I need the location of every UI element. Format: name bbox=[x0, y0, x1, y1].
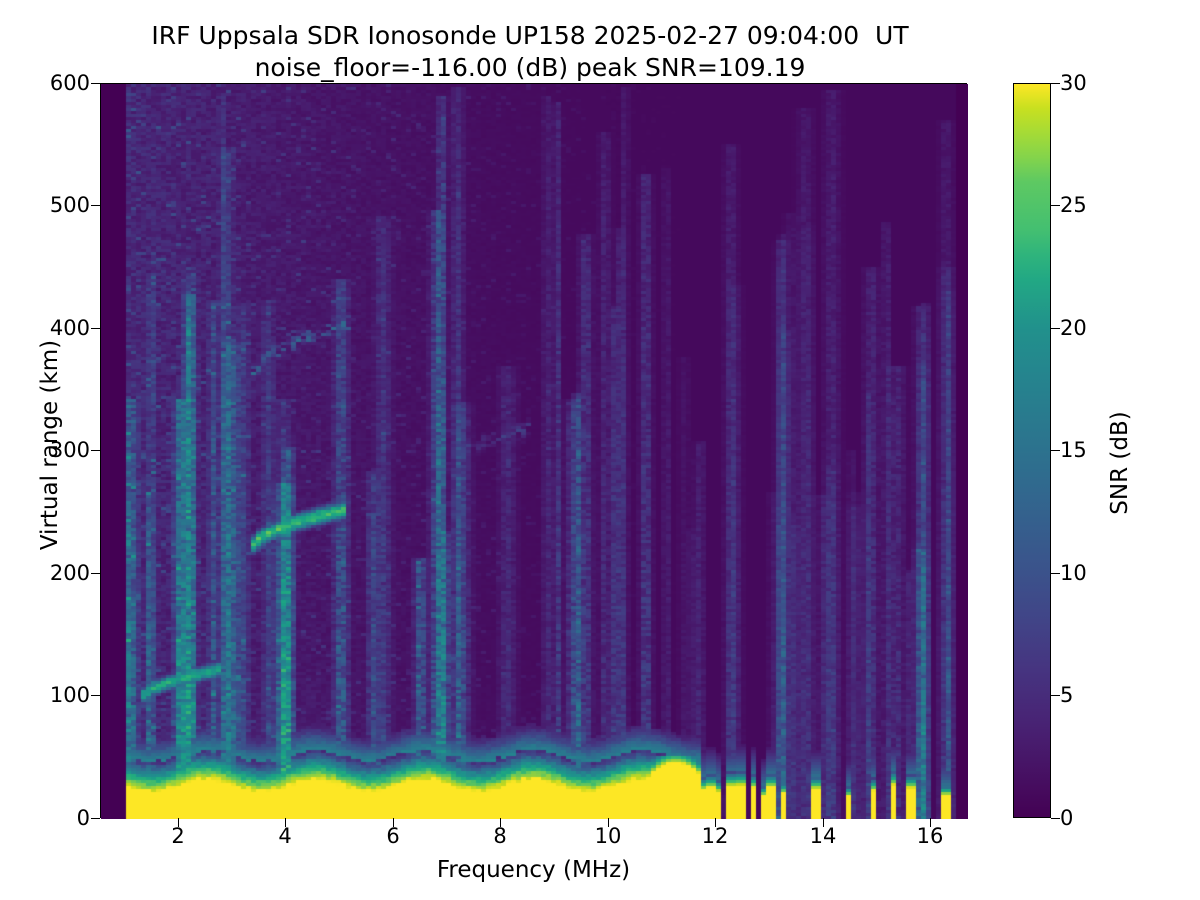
y-tick-label-600: 600 bbox=[30, 73, 90, 94]
colorbar-tick-mark-25 bbox=[1051, 205, 1060, 206]
y-tick-mark-600 bbox=[91, 83, 100, 84]
x-tick-label-14: 14 bbox=[793, 826, 853, 847]
colorbar-tick-label-20: 20 bbox=[1060, 318, 1110, 339]
x-tick-mark-6 bbox=[393, 818, 394, 827]
figure-title-line-2: noise_floor=-116.00 (dB) peak SNR=109.19 bbox=[0, 52, 1060, 84]
colorbar-tick-label-25: 25 bbox=[1060, 195, 1110, 216]
colorbar-label: SNR (dB) bbox=[1107, 263, 1133, 663]
colorbar-gradient bbox=[1014, 84, 1050, 817]
x-tick-label-16: 16 bbox=[900, 826, 960, 847]
x-tick-mark-8 bbox=[500, 818, 501, 827]
y-tick-mark-200 bbox=[91, 573, 100, 574]
x-tick-mark-4 bbox=[285, 818, 286, 827]
x-tick-mark-2 bbox=[178, 818, 179, 827]
colorbar-tick-mark-30 bbox=[1051, 83, 1060, 84]
ionogram-heatmap[interactable] bbox=[101, 84, 968, 819]
colorbar-tick-mark-15 bbox=[1051, 450, 1060, 451]
x-tick-label-10: 10 bbox=[578, 826, 638, 847]
x-tick-mark-10 bbox=[608, 818, 609, 827]
y-axis-label: Virtual range (km) bbox=[37, 245, 63, 645]
ionogram-plot-area[interactable] bbox=[100, 83, 967, 818]
x-axis-label: Frequency (MHz) bbox=[100, 857, 967, 883]
x-tick-mark-16 bbox=[930, 818, 931, 827]
y-tick-label-0: 0 bbox=[30, 808, 90, 829]
y-tick-mark-0 bbox=[91, 818, 100, 819]
colorbar-tick-label-5: 5 bbox=[1060, 685, 1110, 706]
x-tick-mark-12 bbox=[715, 818, 716, 827]
colorbar[interactable] bbox=[1013, 83, 1051, 818]
colorbar-tick-mark-20 bbox=[1051, 328, 1060, 329]
figure-title-line-1: IRF Uppsala SDR Ionosonde UP158 2025-02-… bbox=[0, 20, 1060, 52]
colorbar-tick-mark-10 bbox=[1051, 573, 1060, 574]
y-tick-mark-100 bbox=[91, 695, 100, 696]
y-tick-mark-300 bbox=[91, 450, 100, 451]
x-tick-mark-14 bbox=[823, 818, 824, 827]
y-tick-mark-400 bbox=[91, 328, 100, 329]
colorbar-tick-mark-5 bbox=[1051, 695, 1060, 696]
colorbar-tick-label-10: 10 bbox=[1060, 563, 1110, 584]
x-tick-label-2: 2 bbox=[148, 826, 208, 847]
y-tick-label-500: 500 bbox=[30, 195, 90, 216]
colorbar-tick-label-30: 30 bbox=[1060, 73, 1110, 94]
ionogram-figure: IRF Uppsala SDR Ionosonde UP158 2025-02-… bbox=[0, 0, 1200, 900]
y-tick-mark-500 bbox=[91, 205, 100, 206]
x-tick-label-4: 4 bbox=[255, 826, 315, 847]
x-tick-label-6: 6 bbox=[363, 826, 423, 847]
y-tick-label-100: 100 bbox=[30, 685, 90, 706]
colorbar-tick-label-15: 15 bbox=[1060, 440, 1110, 461]
colorbar-tick-label-0: 0 bbox=[1060, 808, 1110, 829]
colorbar-tick-mark-0 bbox=[1051, 818, 1060, 819]
x-tick-label-8: 8 bbox=[470, 826, 530, 847]
x-tick-label-12: 12 bbox=[685, 826, 745, 847]
